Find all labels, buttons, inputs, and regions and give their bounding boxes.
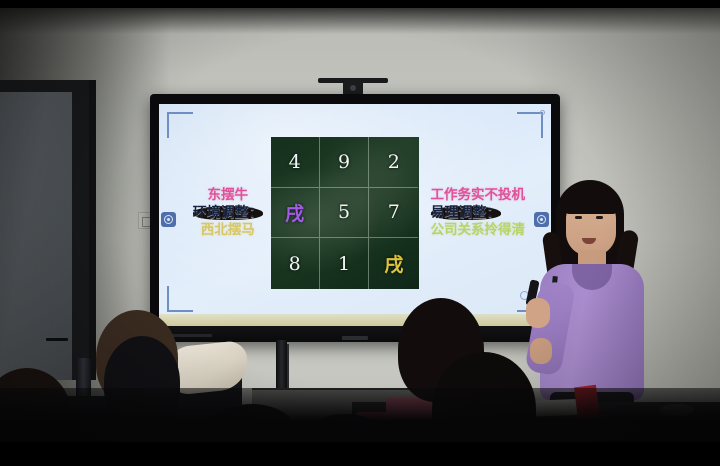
presenter-hand-lower: [530, 338, 552, 364]
grid-cell-r3c3: 戌: [369, 238, 418, 289]
slide-content: 环境调整： 东摆牛 西北摆马 4 9 2 戌 5 7 8 1: [159, 104, 551, 326]
grid-cell-r3c2: 1: [320, 238, 369, 289]
door-handle: [46, 338, 68, 341]
slide-right-column: 易理调整： 工作务实不投机 公司关系拎得清: [419, 133, 526, 293]
magic-square-grid: 4 9 2 戌 5 7 8 1 戌: [271, 137, 419, 289]
display-screen[interactable]: 环境调整： 东摆牛 西北摆马 4 9 2 戌 5 7 8 1: [159, 104, 551, 326]
right-item-1: 工作务实不投机: [431, 189, 526, 203]
interactive-display[interactable]: 环境调整： 东摆牛 西北摆马 4 9 2 戌 5 7 8 1: [150, 94, 560, 342]
grid-cell-r1c3: 2: [369, 137, 418, 188]
letterbox-bottom: [0, 442, 720, 466]
display-bezel-bottom: [150, 326, 560, 342]
foreground-shadow: [0, 388, 720, 442]
display-stand-leg-left: [276, 340, 287, 392]
grid-cell-r2c2: 5: [320, 188, 369, 239]
grid-cells: 4 9 2 戌 5 7 8 1 戌: [271, 137, 419, 289]
right-item-2: 公司关系拎得清: [431, 224, 526, 238]
camera-icon: [343, 80, 363, 95]
screenshot-scene: 环境调整： 东摆牛 西北摆马 4 9 2 戌 5 7 8 1: [0, 0, 720, 466]
presenter-hand-upper: [526, 298, 550, 328]
right-column-heading: 易理调整：: [431, 206, 501, 220]
grid-cell-r2c1: 戌: [271, 188, 320, 239]
presenter-fringe: [562, 188, 620, 214]
grid-cell-r1c2: 9: [320, 137, 369, 188]
display-logo: [342, 336, 368, 340]
letterbox-top: [0, 0, 720, 8]
left-item-1: 东摆牛: [208, 189, 249, 203]
ir-sensor-strip: [172, 334, 212, 337]
door-panel: [0, 92, 72, 380]
screen-bottom-band: [159, 314, 551, 326]
grid-cell-r2c3: 7: [369, 188, 418, 239]
left-item-2: 西北摆马: [201, 224, 255, 238]
presenter-eye-left: [575, 216, 582, 219]
grid-cell-r3c1: 8: [271, 238, 320, 289]
slide-left-column: 环境调整： 东摆牛 西北摆马: [185, 133, 271, 293]
presenter-eye-right: [596, 216, 603, 219]
left-column-heading: 环境调整：: [193, 206, 263, 220]
grid-cell-r1c1: 4: [271, 137, 320, 188]
door-frame: [0, 80, 96, 380]
display-cable: [287, 344, 289, 390]
